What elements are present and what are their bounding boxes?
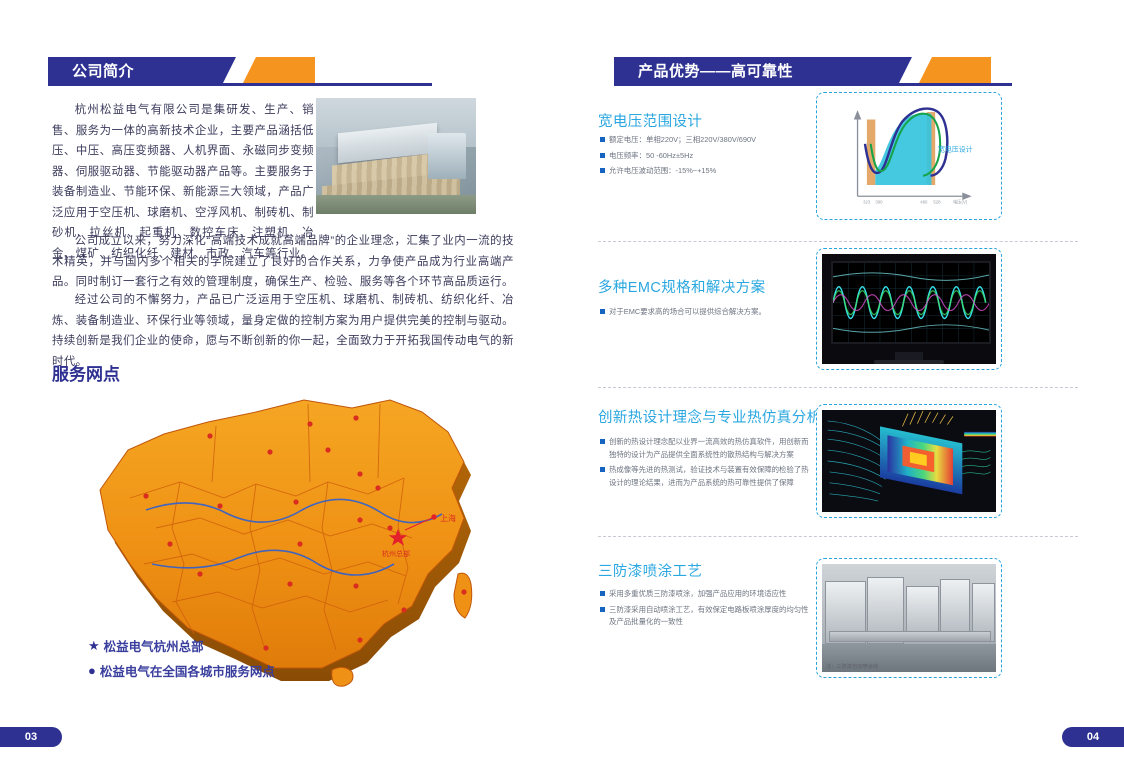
bullet-square-icon — [600, 591, 605, 596]
bullet-item: 三防漆采用自动喷涂工艺，有效保定电路板喷涂厚度的均匀性及产品批量化的一致性 — [600, 604, 814, 629]
bullet-text: 三防漆采用自动喷涂工艺，有效保定电路板喷涂厚度的均匀性及产品批量化的一致性 — [609, 604, 814, 629]
header-orange-accent — [243, 57, 315, 83]
bullet-text: 采用多重优质三防漆喷涂，加强产品应用的环境适应性 — [609, 588, 814, 601]
bullet-text: 允许电压波动范围：-15%~+15% — [609, 165, 810, 178]
chart-shaded-area — [875, 113, 931, 185]
page-number-right: 04 — [1062, 727, 1124, 747]
photo-office-tower — [428, 133, 466, 179]
header-gap — [236, 57, 243, 83]
feature-image-wide-voltage: 323 380 480 528 电压(V) 宽电压设计 — [816, 92, 1002, 220]
chart-axis-label-x: 电压(V) — [953, 199, 968, 206]
feature-title-thermal: 创新热设计理念与专业热仿真分析 — [598, 406, 822, 427]
star-icon: ★ — [88, 639, 100, 652]
bullet-item: 对于EMC要求高的场合可以提供综合解决方案。 — [600, 306, 810, 319]
bullet-text: 额定电压：单相220V；三相220V/380V/690V — [609, 134, 810, 147]
intro-paragraph-2: 公司成立以来，努力深化“高端技术成就高端品牌”的企业理念，汇集了业内一流的技术精… — [52, 231, 514, 293]
chart-tick-480: 480 — [920, 200, 928, 205]
feature-bullets-wide-voltage: 额定电压：单相220V；三相220V/380V/690V 电压频率：50 -60… — [600, 134, 810, 181]
left-section-header-title: 公司简介 — [48, 57, 236, 83]
feature-title-coating: 三防漆喷涂工艺 — [598, 560, 702, 581]
bullet-item: 热成像等先进的热测试，验证技术与装置有效保障的检验了热设计的理论结果，进而为产品… — [600, 464, 812, 489]
chart-x-ticks: 323 380 480 528 电压(V) — [863, 199, 968, 206]
chart-annotation-label: 宽电压设计 — [938, 144, 973, 153]
coating-line-photo: 注：三防漆自动喷涂线 — [822, 564, 996, 672]
bullet-square-icon — [600, 137, 605, 142]
photo-ground — [316, 195, 476, 214]
bullet-square-icon — [600, 467, 605, 472]
bullet-square-icon — [600, 153, 605, 158]
chart-tick-380: 380 — [875, 200, 883, 205]
bullet-text: 热成像等先进的热测试，验证技术与装置有效保障的检验了热设计的理论结果，进而为产品… — [609, 464, 812, 489]
feature-image-emc — [816, 248, 1002, 370]
bullet-text: 对于EMC要求高的场合可以提供综合解决方案。 — [609, 306, 810, 319]
legend-item-branches-label: 松益电气在全国各城市服务网点 — [100, 661, 275, 680]
intro-paragraph-2-text: 公司成立以来，努力深化“高端技术成就高端品牌”的企业理念，汇集了业内一流的技术精… — [52, 231, 514, 293]
brochure-spread: 公司简介 杭州松益电气有限公司是集研发、生产、销售、服务为一体的高新技术企业，主… — [0, 0, 1124, 765]
coating-image-inner: 注：三防漆自动喷涂线 — [822, 564, 996, 672]
map-hq-label: 上海 — [440, 513, 456, 523]
right-section-header: 产品优势——高可靠性 — [614, 57, 1080, 83]
thermal-color-scale — [964, 432, 996, 437]
map-taiwan — [454, 573, 472, 618]
monitor-base — [874, 360, 944, 364]
intro-paragraph-3: 经过公司的不懈努力，产品已广泛运用于空压机、球磨机、制砖机、纺织化纤、冶炼、装备… — [52, 290, 514, 372]
feature-bullets-coating: 采用多重优质三防漆喷涂，加强产品应用的环境适应性 三防漆采用自动喷涂工艺，有效保… — [600, 588, 814, 632]
factory-photo — [316, 98, 476, 214]
bullet-square-icon — [600, 607, 605, 612]
chart-y-arrow — [854, 110, 861, 119]
legend-item-hq-label: 松益电气杭州总部 — [104, 636, 204, 655]
map-legend: ★ 松益电气杭州总部 ● 松益电气在全国各城市服务网点 — [88, 636, 275, 686]
bullet-item: 创新的热设计理念配以业界一流高效的热仿真软件，用创新而独特的设计为产品提供全面系… — [600, 436, 812, 461]
chart-tick-528: 528 — [933, 200, 941, 205]
bullet-item: 电压频率：50 -60Hz±5Hz — [600, 150, 810, 163]
oscilloscope-screen — [831, 261, 992, 344]
bullet-item: 允许电压波动范围：-15%~+15% — [600, 165, 810, 178]
bullet-square-icon — [600, 309, 605, 314]
left-section-header: 公司简介 — [48, 57, 510, 83]
feature-image-coating: 注：三防漆自动喷涂线 — [816, 558, 1002, 678]
wide-voltage-chart-inner: 323 380 480 528 电压(V) 宽电压设计 — [822, 98, 996, 214]
legend-item-branches: ● 松益电气在全国各城市服务网点 — [88, 661, 275, 680]
oscilloscope-waveform-svg — [833, 263, 990, 342]
dot-icon: ● — [88, 664, 96, 677]
wide-voltage-curve-chart: 323 380 480 528 电压(V) 宽电压设计 — [822, 98, 996, 214]
map-hainan — [332, 667, 353, 686]
emc-image-inner — [822, 254, 996, 364]
thermal-svg — [822, 410, 996, 512]
header-gap-right — [912, 57, 919, 83]
header-underline-right — [614, 83, 1012, 86]
feature-image-thermal — [816, 404, 1002, 518]
feature-title-emc: 多种EMC规格和解决方案 — [598, 276, 766, 297]
legend-item-hq: ★ 松益电气杭州总部 — [88, 636, 275, 655]
header-orange-accent-right — [919, 57, 991, 83]
bullet-square-icon — [600, 168, 605, 173]
chart-tick-323: 323 — [863, 200, 871, 205]
left-page: 公司简介 杭州松益电气有限公司是集研发、生产、销售、服务为一体的高新技术企业，主… — [0, 0, 562, 765]
bullet-item: 额定电压：单相220V；三相220V/380V/690V — [600, 134, 810, 147]
map-hq-sub-label: 杭州总部 — [382, 549, 410, 558]
bullet-square-icon — [600, 439, 605, 444]
intro-paragraph-3-text: 经过公司的不懈努力，产品已广泛运用于空压机、球磨机、制砖机、纺织化纤、冶炼、装备… — [52, 290, 514, 372]
bullet-text: 电压频率：50 -60Hz±5Hz — [609, 150, 810, 163]
feature-divider-3 — [598, 536, 1078, 537]
thermal-simulation-image — [822, 410, 996, 512]
emc-oscilloscope-photo — [822, 254, 996, 364]
thermal-image-inner — [822, 410, 996, 512]
bullet-text: 创新的热设计理念配以业界一流高效的热仿真软件，用创新而独特的设计为产品提供全面系… — [609, 436, 812, 461]
feature-title-wide-voltage: 宽电压范围设计 — [598, 110, 702, 131]
map-landmass — [100, 400, 464, 668]
right-section-header-title: 产品优势——高可靠性 — [614, 57, 912, 83]
page-number-left: 03 — [0, 727, 62, 747]
feature-bullets-thermal: 创新的热设计理念配以业界一流高效的热仿真软件，用创新而独特的设计为产品提供全面系… — [600, 436, 812, 492]
chart-svg: 323 380 480 528 电压(V) 宽电压设计 — [822, 98, 996, 214]
right-page: 产品优势——高可靠性 宽电压范围设计 额定电压：单相220V；三相220V/38… — [562, 0, 1124, 765]
coating-image-caption: 注：三防漆自动喷涂线 — [826, 663, 878, 670]
feature-divider-2 — [598, 387, 1078, 388]
header-underline — [48, 83, 432, 86]
feature-divider-1 — [598, 241, 1078, 242]
feature-bullets-emc: 对于EMC要求高的场合可以提供综合解决方案。 — [600, 306, 810, 322]
conveyor-belt — [829, 631, 991, 642]
bullet-item: 采用多重优质三防漆喷涂，加强产品应用的环境适应性 — [600, 588, 814, 601]
